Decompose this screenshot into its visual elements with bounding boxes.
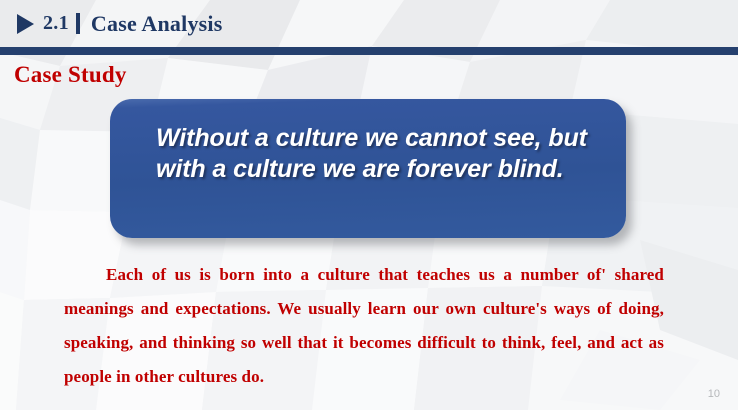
header-section-number: 2.1 <box>43 12 69 35</box>
section-heading: Case Study <box>14 62 127 88</box>
triangle-right-icon <box>17 14 34 34</box>
header-divider <box>76 13 80 34</box>
slide-header: 2.1 Case Analysis <box>0 0 738 47</box>
slide: 2.1 Case Analysis Case Study Without a c… <box>0 0 738 410</box>
page-title: Case Analysis <box>91 11 223 37</box>
quote-text: Without a culture we cannot see, but wit… <box>156 123 600 185</box>
body-paragraph: Each of us is born into a culture that t… <box>64 258 664 394</box>
page-number: 10 <box>708 388 720 400</box>
quote-callout-box: Without a culture we cannot see, but wit… <box>110 99 626 238</box>
header-rule <box>0 47 738 55</box>
